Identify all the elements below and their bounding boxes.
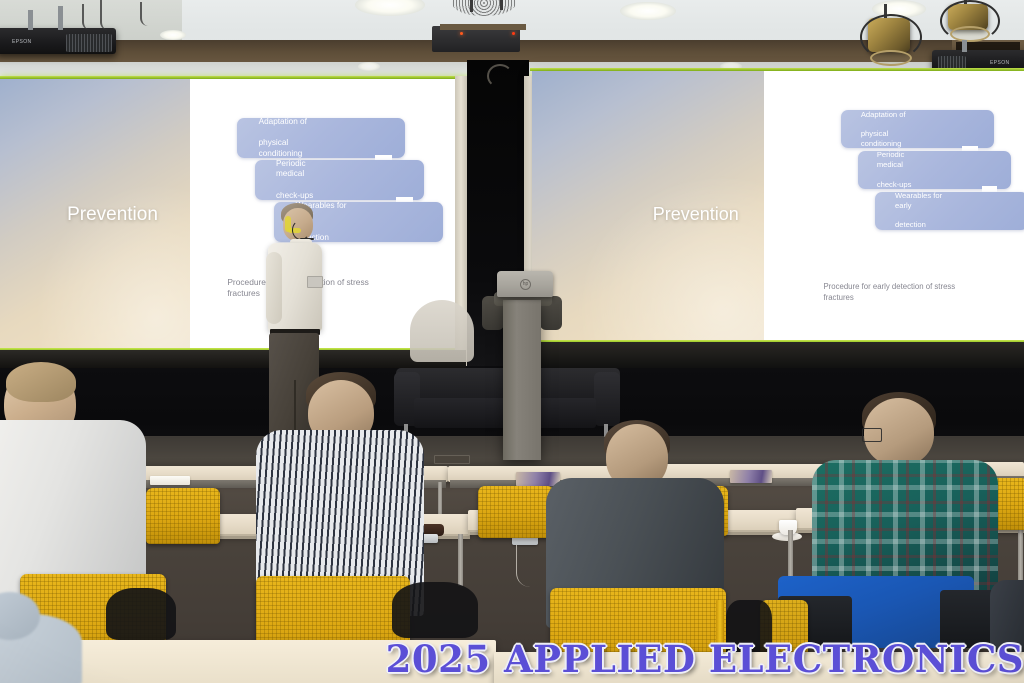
chair-back-row[interactable]: [478, 486, 554, 538]
flow-step-1: Adaptation ofphysical conditioning: [237, 118, 405, 157]
wall-shadow-left: [0, 350, 466, 368]
ceiling-cable: [100, 0, 124, 30]
presenter-name-badge: [307, 276, 323, 288]
eyeglasses: [862, 428, 882, 442]
audience-hair: [6, 362, 76, 402]
projector-brand-label-right: EPSON: [990, 60, 1010, 66]
slide-caption-left: Procedure for early detection of stressf…: [227, 277, 452, 300]
lectern: [503, 300, 541, 460]
chair-back-row[interactable]: [146, 488, 220, 544]
projection-screen-right: Prevention Adaptation ofphysical conditi…: [532, 71, 1024, 342]
recessed-light: [358, 62, 380, 71]
flow-step-3: Wearables for earlydetection: [875, 192, 1024, 230]
table-leg: [1018, 528, 1023, 580]
recessed-light: [620, 2, 676, 20]
laptop: hp: [497, 271, 553, 297]
charging-cord: [516, 545, 535, 587]
flow-step-1: Adaptation ofphysical conditioning: [841, 110, 994, 148]
slide-title-right: Prevention: [653, 204, 739, 225]
projector-mount-left: [28, 10, 33, 30]
under-chair-shadow: [106, 588, 176, 640]
presenter-arm-left: [266, 252, 282, 324]
slide-left: Prevention Adaptation ofphysical conditi…: [0, 79, 466, 350]
speaker-led: [460, 32, 463, 35]
leaflet-on-table: [730, 470, 772, 483]
projector-mount-right: [962, 40, 967, 52]
flow-step-2: Periodic medicalcheck-ups: [255, 160, 423, 199]
slide-right: Prevention Adaptation ofphysical conditi…: [532, 71, 1024, 342]
hp-logo-icon: hp: [520, 279, 531, 290]
floor-outlet-plate: [434, 455, 470, 464]
projector-vent-left: [66, 34, 112, 52]
wall-shadow-right: [530, 342, 1024, 368]
speaker-bracket: [440, 24, 526, 30]
under-chair-shadow: [392, 582, 478, 638]
projector-mount-left-2: [58, 6, 63, 30]
slide-left-title-panel: Prevention: [0, 79, 190, 350]
projector-brand-label-left: EPSON: [12, 39, 32, 45]
presentation-photo-scene: EPSON EPSON Prevention: [0, 0, 1024, 683]
flow-step-2: Periodic medicalcheck-ups: [858, 151, 1011, 189]
hanging-cable: [487, 64, 513, 88]
projection-screen-left: Prevention Adaptation ofphysical conditi…: [0, 79, 466, 350]
headset-mic: [292, 220, 310, 240]
table-leg: [458, 534, 463, 586]
papers-on-table: [150, 476, 190, 485]
rig-stem: [470, 0, 473, 12]
slide-title-left: Prevention: [67, 204, 158, 226]
sofa-arm-right: [594, 372, 620, 426]
rig-stem: [500, 0, 503, 10]
slide-caption-right: Procedure for early detection of stressf…: [823, 282, 1024, 303]
table-leg: [788, 530, 793, 582]
watermark: 2025 APPLIED ELECTRONICS: [0, 637, 1024, 681]
seated-silhouette: [410, 300, 474, 362]
recessed-light: [160, 30, 186, 40]
slide-right-title-panel: Prevention: [532, 71, 764, 342]
speaker-led: [512, 32, 515, 35]
ceiling-cable: [140, 2, 170, 26]
